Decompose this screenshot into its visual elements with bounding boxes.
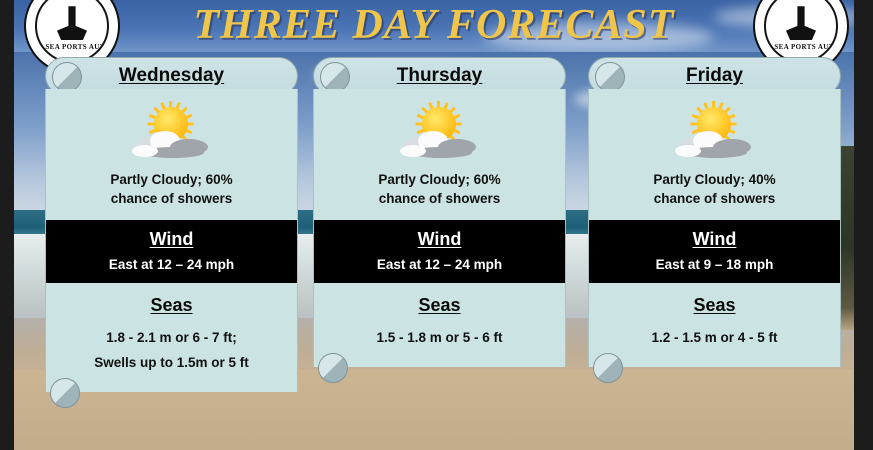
seas-label: Seas (54, 295, 289, 316)
left-letterbox (0, 0, 14, 450)
forecast-card-friday: Friday (588, 57, 841, 367)
conditions-line-2: chance of showers (54, 190, 289, 209)
conditions-line-1: Partly Cloudy; 40% (597, 171, 832, 190)
page-title: THREE DAY FORECAST (14, 1, 854, 49)
day-name: Thursday (314, 65, 565, 87)
conditions-block: Partly Cloudy; 40% chance of showers (589, 89, 840, 220)
card-body: Partly Cloudy; 60% chance of showers Win… (313, 89, 566, 367)
cloud-puff (675, 145, 701, 157)
sun-behind-cloud-icon (126, 103, 218, 163)
conditions-line-1: Partly Cloudy; 60% (322, 171, 557, 190)
conditions-block: Partly Cloudy; 60% chance of showers (46, 89, 297, 220)
seas-line-1: 1.2 - 1.5 m or 4 - 5 ft (597, 326, 832, 351)
wind-block: Wind East at 9 – 18 mph (589, 220, 840, 283)
right-letterbox (854, 0, 873, 450)
title-bar: THREE DAY FORECAST (14, 0, 854, 52)
seal-text: & SEA PORTS AUTHORITY (766, 43, 836, 51)
seal-inner-ring: & SEA PORTS AUTHORITY (764, 0, 838, 63)
cloud-puff (132, 145, 158, 157)
seas-block: Seas 1.8 - 2.1 m or 6 - 7 ft; Swells up … (46, 283, 297, 392)
sun-behind-cloud-icon (669, 103, 761, 163)
seas-block: Seas 1.5 - 1.8 m or 5 - 6 ft (314, 283, 565, 367)
wind-value: East at 12 – 24 mph (54, 257, 289, 272)
wind-value: East at 12 – 24 mph (322, 257, 557, 272)
conditions-line-2: chance of showers (322, 190, 557, 209)
seas-line-1: 1.5 - 1.8 m or 5 - 6 ft (322, 326, 557, 351)
forecast-card-thursday: Thursday (313, 57, 566, 367)
conditions-line-2: chance of showers (597, 190, 832, 209)
wind-label: Wind (597, 229, 832, 250)
seas-label: Seas (322, 295, 557, 316)
day-name: Friday (589, 65, 840, 87)
seas-line-2: Swells up to 1.5m or 5 ft (54, 351, 289, 376)
ship-icon (786, 6, 816, 40)
sun-behind-cloud-icon (394, 103, 486, 163)
card-knob-icon (50, 378, 80, 408)
card-body: Partly Cloudy; 60% chance of showers Win… (45, 89, 298, 392)
forecast-card-wednesday: Wednesday (45, 57, 298, 392)
wind-label: Wind (322, 229, 557, 250)
day-name: Wednesday (46, 65, 297, 87)
ship-icon (57, 6, 87, 40)
cloud-puff (400, 145, 426, 157)
seas-line-1: 1.8 - 2.1 m or 6 - 7 ft; (54, 326, 289, 351)
wind-block: Wind East at 12 – 24 mph (314, 220, 565, 283)
card-body: Partly Cloudy; 40% chance of showers Win… (588, 89, 841, 367)
wind-label: Wind (54, 229, 289, 250)
wind-value: East at 9 – 18 mph (597, 257, 832, 272)
seas-block: Seas 1.2 - 1.5 m or 4 - 5 ft (589, 283, 840, 367)
wind-block: Wind East at 12 – 24 mph (46, 220, 297, 283)
conditions-line-1: Partly Cloudy; 60% (54, 171, 289, 190)
seal-inner-ring: & SEA PORTS AUTHORITY (35, 0, 109, 63)
seal-text: & SEA PORTS AUTHORITY (37, 43, 107, 51)
conditions-block: Partly Cloudy; 60% chance of showers (314, 89, 565, 220)
seas-label: Seas (597, 295, 832, 316)
forecast-slide: THREE DAY FORECAST & SEA PORTS AUTHORITY… (0, 0, 873, 450)
